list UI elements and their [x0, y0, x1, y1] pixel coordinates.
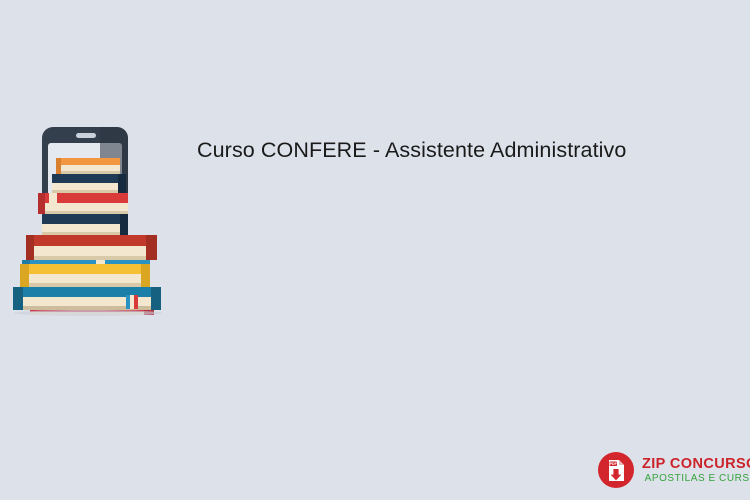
course-title: Curso CONFERE - Assistente Administrativ… — [197, 136, 697, 164]
book-navy-upper — [52, 174, 126, 193]
book-red-upper — [38, 193, 128, 214]
book-stack-base-svg — [8, 262, 173, 317]
pdf-label-text: PDF — [610, 462, 618, 466]
book-teal — [13, 287, 161, 310]
brand-tagline: APOSTILAS E CURSOS — [642, 472, 750, 485]
book-navy-mid — [42, 214, 128, 235]
drop-shadow — [14, 310, 162, 316]
book-stack-base — [8, 262, 173, 317]
pdf-download-icon: PDF — [597, 451, 635, 489]
download-arrow-stem — [613, 469, 618, 475]
book-crimson-wide — [26, 235, 157, 260]
brand-logo[interactable]: PDF ZIP CONCURSOS APOSTILAS E CURSOS — [597, 449, 739, 491]
brand-name: ZIP CONCURSOS — [642, 456, 750, 472]
pdf-download-icon-svg: PDF — [597, 451, 635, 489]
book-orange-top — [56, 158, 120, 174]
page-canvas: Curso CONFERE - Assistente Administrativ… — [0, 0, 750, 500]
brand-text-block: ZIP CONCURSOS APOSTILAS E CURSOS — [642, 456, 750, 485]
book-yellow — [20, 264, 150, 287]
